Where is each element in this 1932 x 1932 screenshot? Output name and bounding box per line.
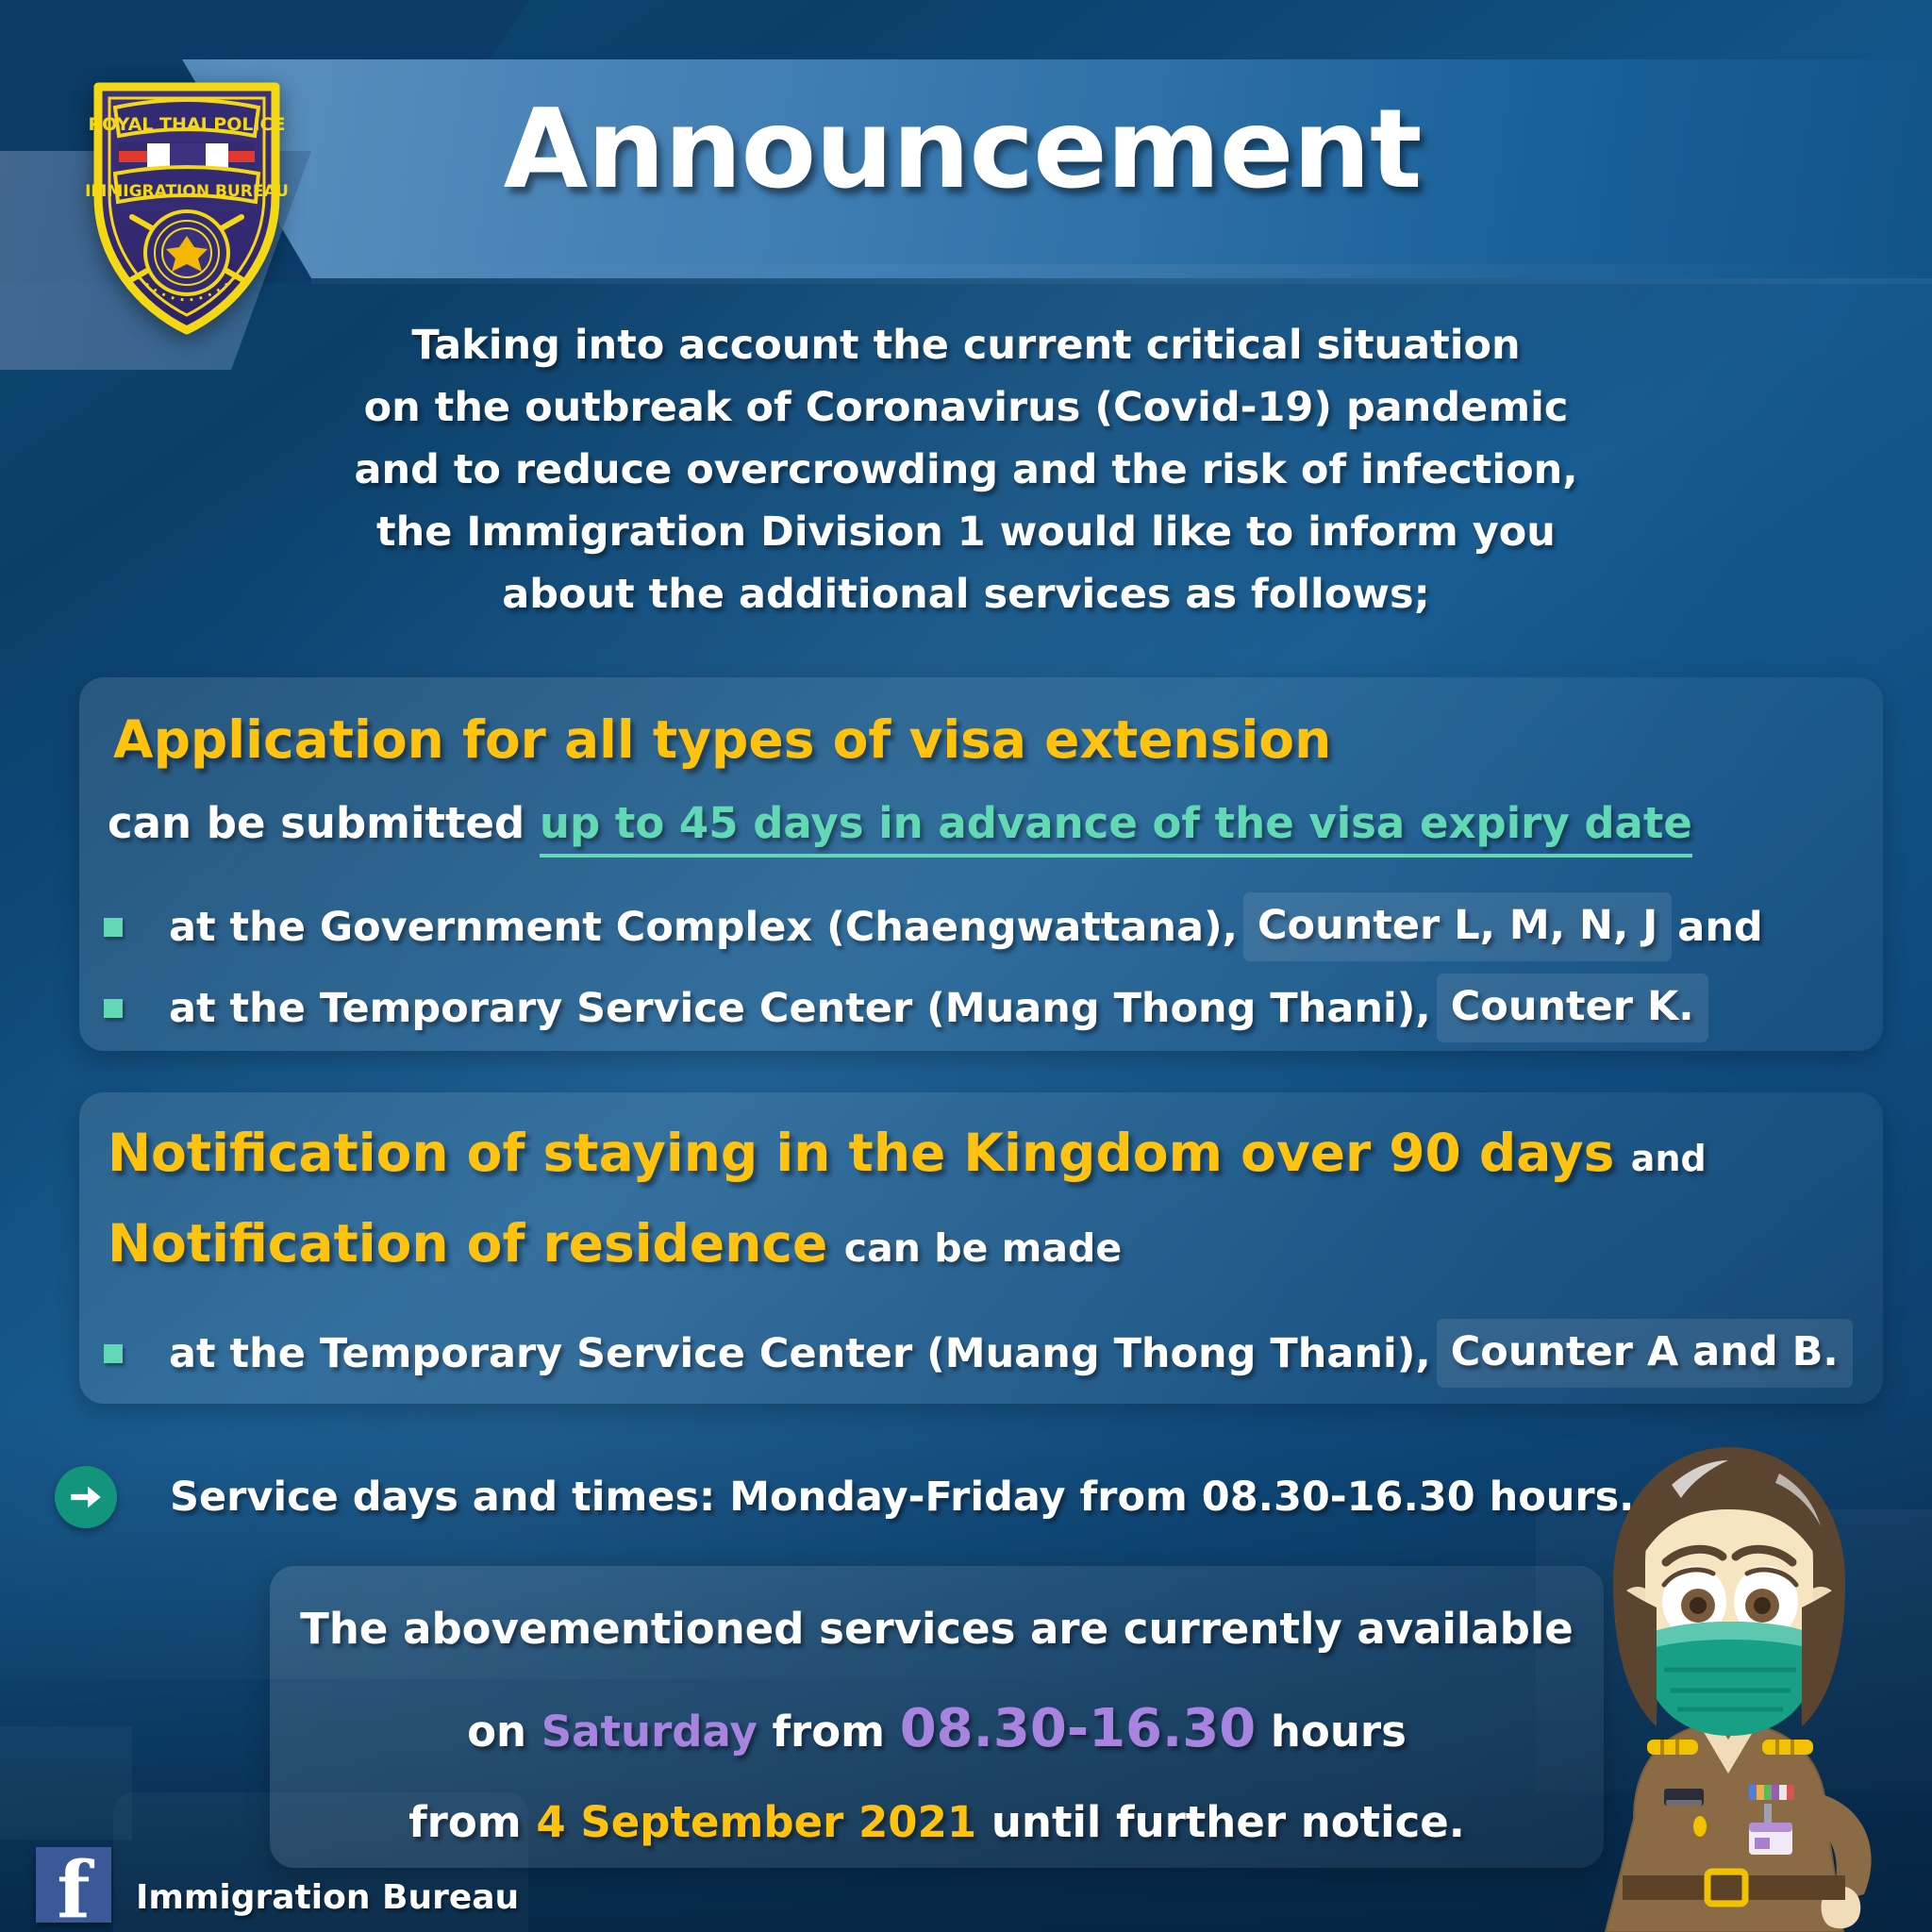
ribbon-bar [1749, 1785, 1794, 1800]
saturday-line2-mid: from [758, 1707, 900, 1757]
footer-facebook-row[interactable]: f Immigration Bureau [36, 1809, 519, 1923]
announcement-poster: ROYAL THAI POLICE IMMIGRATION BUREAU · ·… [0, 0, 1932, 1932]
police-officer-illustration [1532, 1423, 1932, 1932]
arrow-right-icon [55, 1466, 117, 1528]
notification-heading-residence: Notification of residence [108, 1213, 827, 1274]
intro-line-5: about the additional services as follows… [211, 570, 1721, 619]
background-strip [311, 278, 1932, 284]
saturday-day-label: Saturday [541, 1707, 758, 1757]
notification-heading-2-tail: can be made [844, 1225, 1122, 1271]
visa-extension-sub-prefix: can be submitted [108, 798, 540, 848]
intro-line-4: the Immigration Division 1 would like to… [211, 508, 1721, 557]
visa-bullet-1-suffix: and [1677, 904, 1762, 951]
notification-heading-line-1: Notification of staying in the Kingdom o… [108, 1123, 1707, 1183]
bullet-square-icon [104, 918, 123, 937]
visa-extension-heading: Application for all types of visa extens… [113, 709, 1331, 770]
page-title: Announcement [340, 74, 1585, 225]
visa-bullet-muangthongthani: at the Temporary Service Center (Muang T… [104, 974, 1714, 1042]
service-days-text: Service days and times: Monday-Friday fr… [170, 1474, 1635, 1521]
visa-bullet-chaengwattana: at the Government Complex (Chaengwattana… [104, 892, 1763, 961]
bullet-square-icon [104, 1344, 123, 1363]
notification-bullet-muangthongthani: at the Temporary Service Center (Muang T… [104, 1319, 1858, 1388]
visa-bullet-2-chip: Counter K. [1437, 974, 1708, 1042]
emblem-top-text: ROYAL THAI POLICE [89, 114, 286, 135]
intro-line-3: and to reduce overcrowding and the risk … [211, 445, 1721, 494]
emblem-mid-text: IMMIGRATION BUREAU [85, 182, 289, 201]
saturday-line2-suffix: hours [1256, 1707, 1407, 1757]
notification-heading-1-tail: and [1631, 1138, 1707, 1179]
saturday-time-range: 08.30-16.30 [900, 1698, 1257, 1759]
royal-thai-police-immigration-bureau-emblem: ROYAL THAI POLICE IMMIGRATION BUREAU · ·… [83, 74, 291, 338]
notification-heading-line-2: Notification of residence can be made [108, 1213, 1122, 1274]
saturday-line2-prefix: on [467, 1707, 541, 1757]
saturday-notice-line-1: The abovementioned services are currentl… [270, 1604, 1604, 1654]
notification-bullet-1-chip: Counter A and B. [1437, 1319, 1853, 1388]
facebook-page-name[interactable]: Immigration Bureau [136, 1878, 519, 1917]
visa-bullet-1-chip: Counter L, M, N, J [1243, 892, 1672, 961]
visa-extension-subline: can be submitted up to 45 days in advanc… [108, 798, 1692, 848]
service-days-row: Service days and times: Monday-Friday fr… [55, 1455, 1658, 1540]
notification-heading-90days: Notification of staying in the Kingdom o… [108, 1123, 1614, 1183]
saturday-notice-line-2: on Saturday from 08.30-16.30 hours [270, 1698, 1604, 1759]
saturday-start-date: 4 September 2021 [536, 1797, 976, 1847]
intro-line-2: on the outbreak of Coronavirus (Covid-19… [211, 383, 1721, 432]
visa-extension-advance-highlight: up to 45 days in advance of the visa exp… [540, 798, 1692, 858]
facebook-glyph: f [57, 1855, 90, 1928]
notification-card: Notification of staying in the Kingdom o… [79, 1092, 1883, 1404]
visa-bullet-1-text: at the Government Complex (Chaengwattana… [169, 904, 1238, 951]
saturday-line3-suffix: until further notice. [976, 1797, 1465, 1847]
intro-line-1: Taking into account the current critical… [211, 321, 1721, 370]
visa-extension-card: Application for all types of visa extens… [79, 677, 1883, 1051]
visa-bullet-2-text: at the Temporary Service Center (Muang T… [169, 985, 1431, 1032]
bullet-square-icon [104, 999, 123, 1018]
notification-bullet-1-text: at the Temporary Service Center (Muang T… [169, 1330, 1431, 1377]
intro-paragraph: Taking into account the current critical… [211, 321, 1721, 632]
facebook-icon[interactable]: f [36, 1847, 111, 1923]
